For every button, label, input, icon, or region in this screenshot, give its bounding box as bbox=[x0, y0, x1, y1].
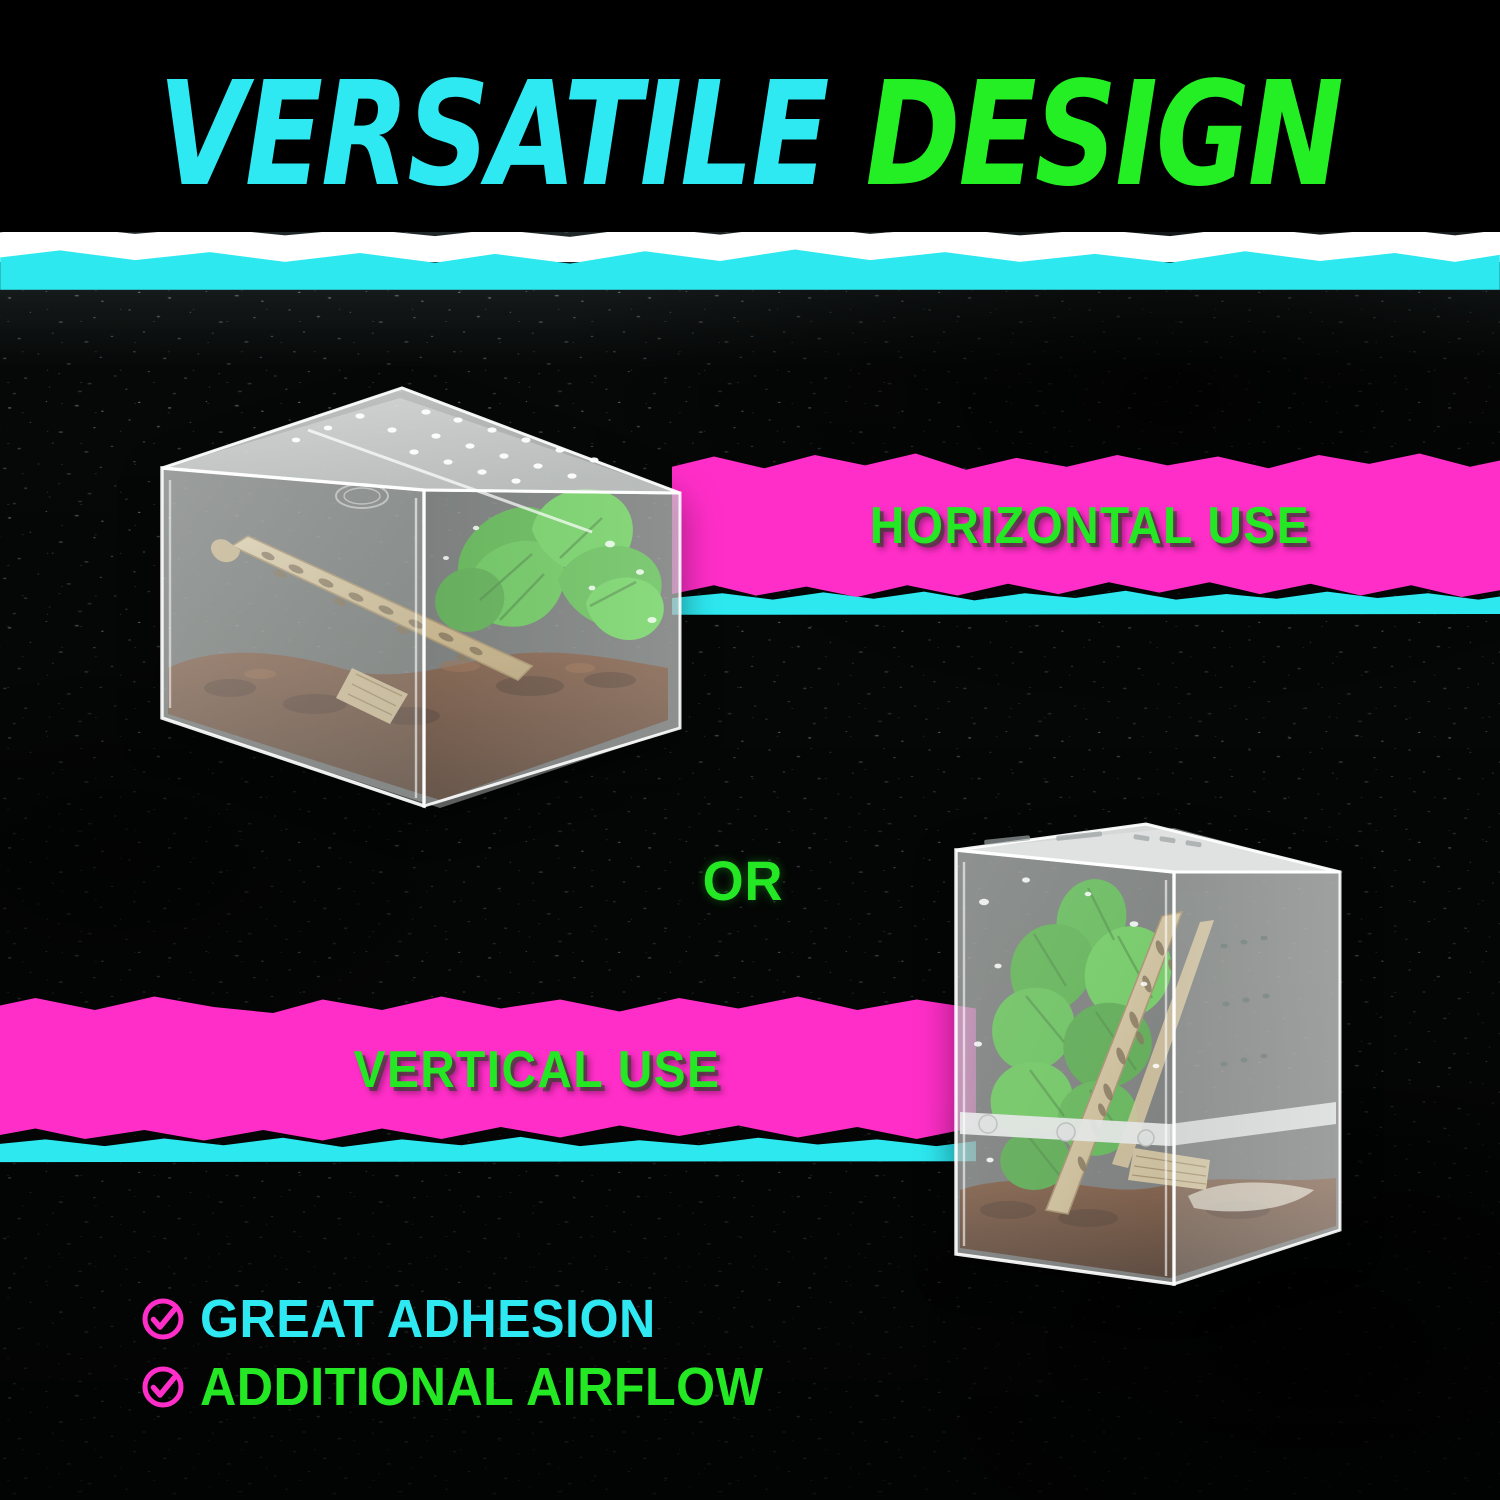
product-image-terrarium-vertical bbox=[938, 818, 1358, 1318]
feature-item-additional-airflow: ADDITIONAL AIRFLOW bbox=[140, 1356, 806, 1418]
banner-vertical-use: VERTICAL USE bbox=[0, 995, 976, 1145]
page-title: VERSATILE DESIGN bbox=[23, 62, 1478, 206]
check-circle-icon bbox=[140, 1364, 186, 1410]
feature-item-great-adhesion: GREAT ADHESION bbox=[140, 1288, 806, 1350]
separator-or-label: OR bbox=[703, 848, 784, 913]
banner-horizontal-use-label: HORIZONTAL USE bbox=[672, 452, 1445, 600]
banner-horizontal-use: HORIZONTAL USE bbox=[672, 452, 1500, 600]
title-bar: VERSATILE DESIGN bbox=[0, 0, 1500, 232]
page-title-part2: DESIGN bbox=[865, 50, 1341, 218]
banner-vertical-use-label: VERTICAL USE bbox=[65, 995, 976, 1145]
feature-label: ADDITIONAL AIRFLOW bbox=[200, 1356, 764, 1418]
feature-label: GREAT ADHESION bbox=[200, 1288, 656, 1350]
torn-paper-strip-top bbox=[0, 224, 1500, 290]
page-title-part1: VERSATILE bbox=[158, 50, 827, 218]
feature-list: GREAT ADHESION ADDITIONAL AIRFLOW bbox=[140, 1288, 806, 1424]
check-circle-icon bbox=[140, 1296, 186, 1342]
product-image-terrarium-horizontal bbox=[140, 368, 700, 838]
product-infographic: VERSATILE DESIGN HORIZONTAL USE VERTICAL… bbox=[0, 0, 1500, 1500]
